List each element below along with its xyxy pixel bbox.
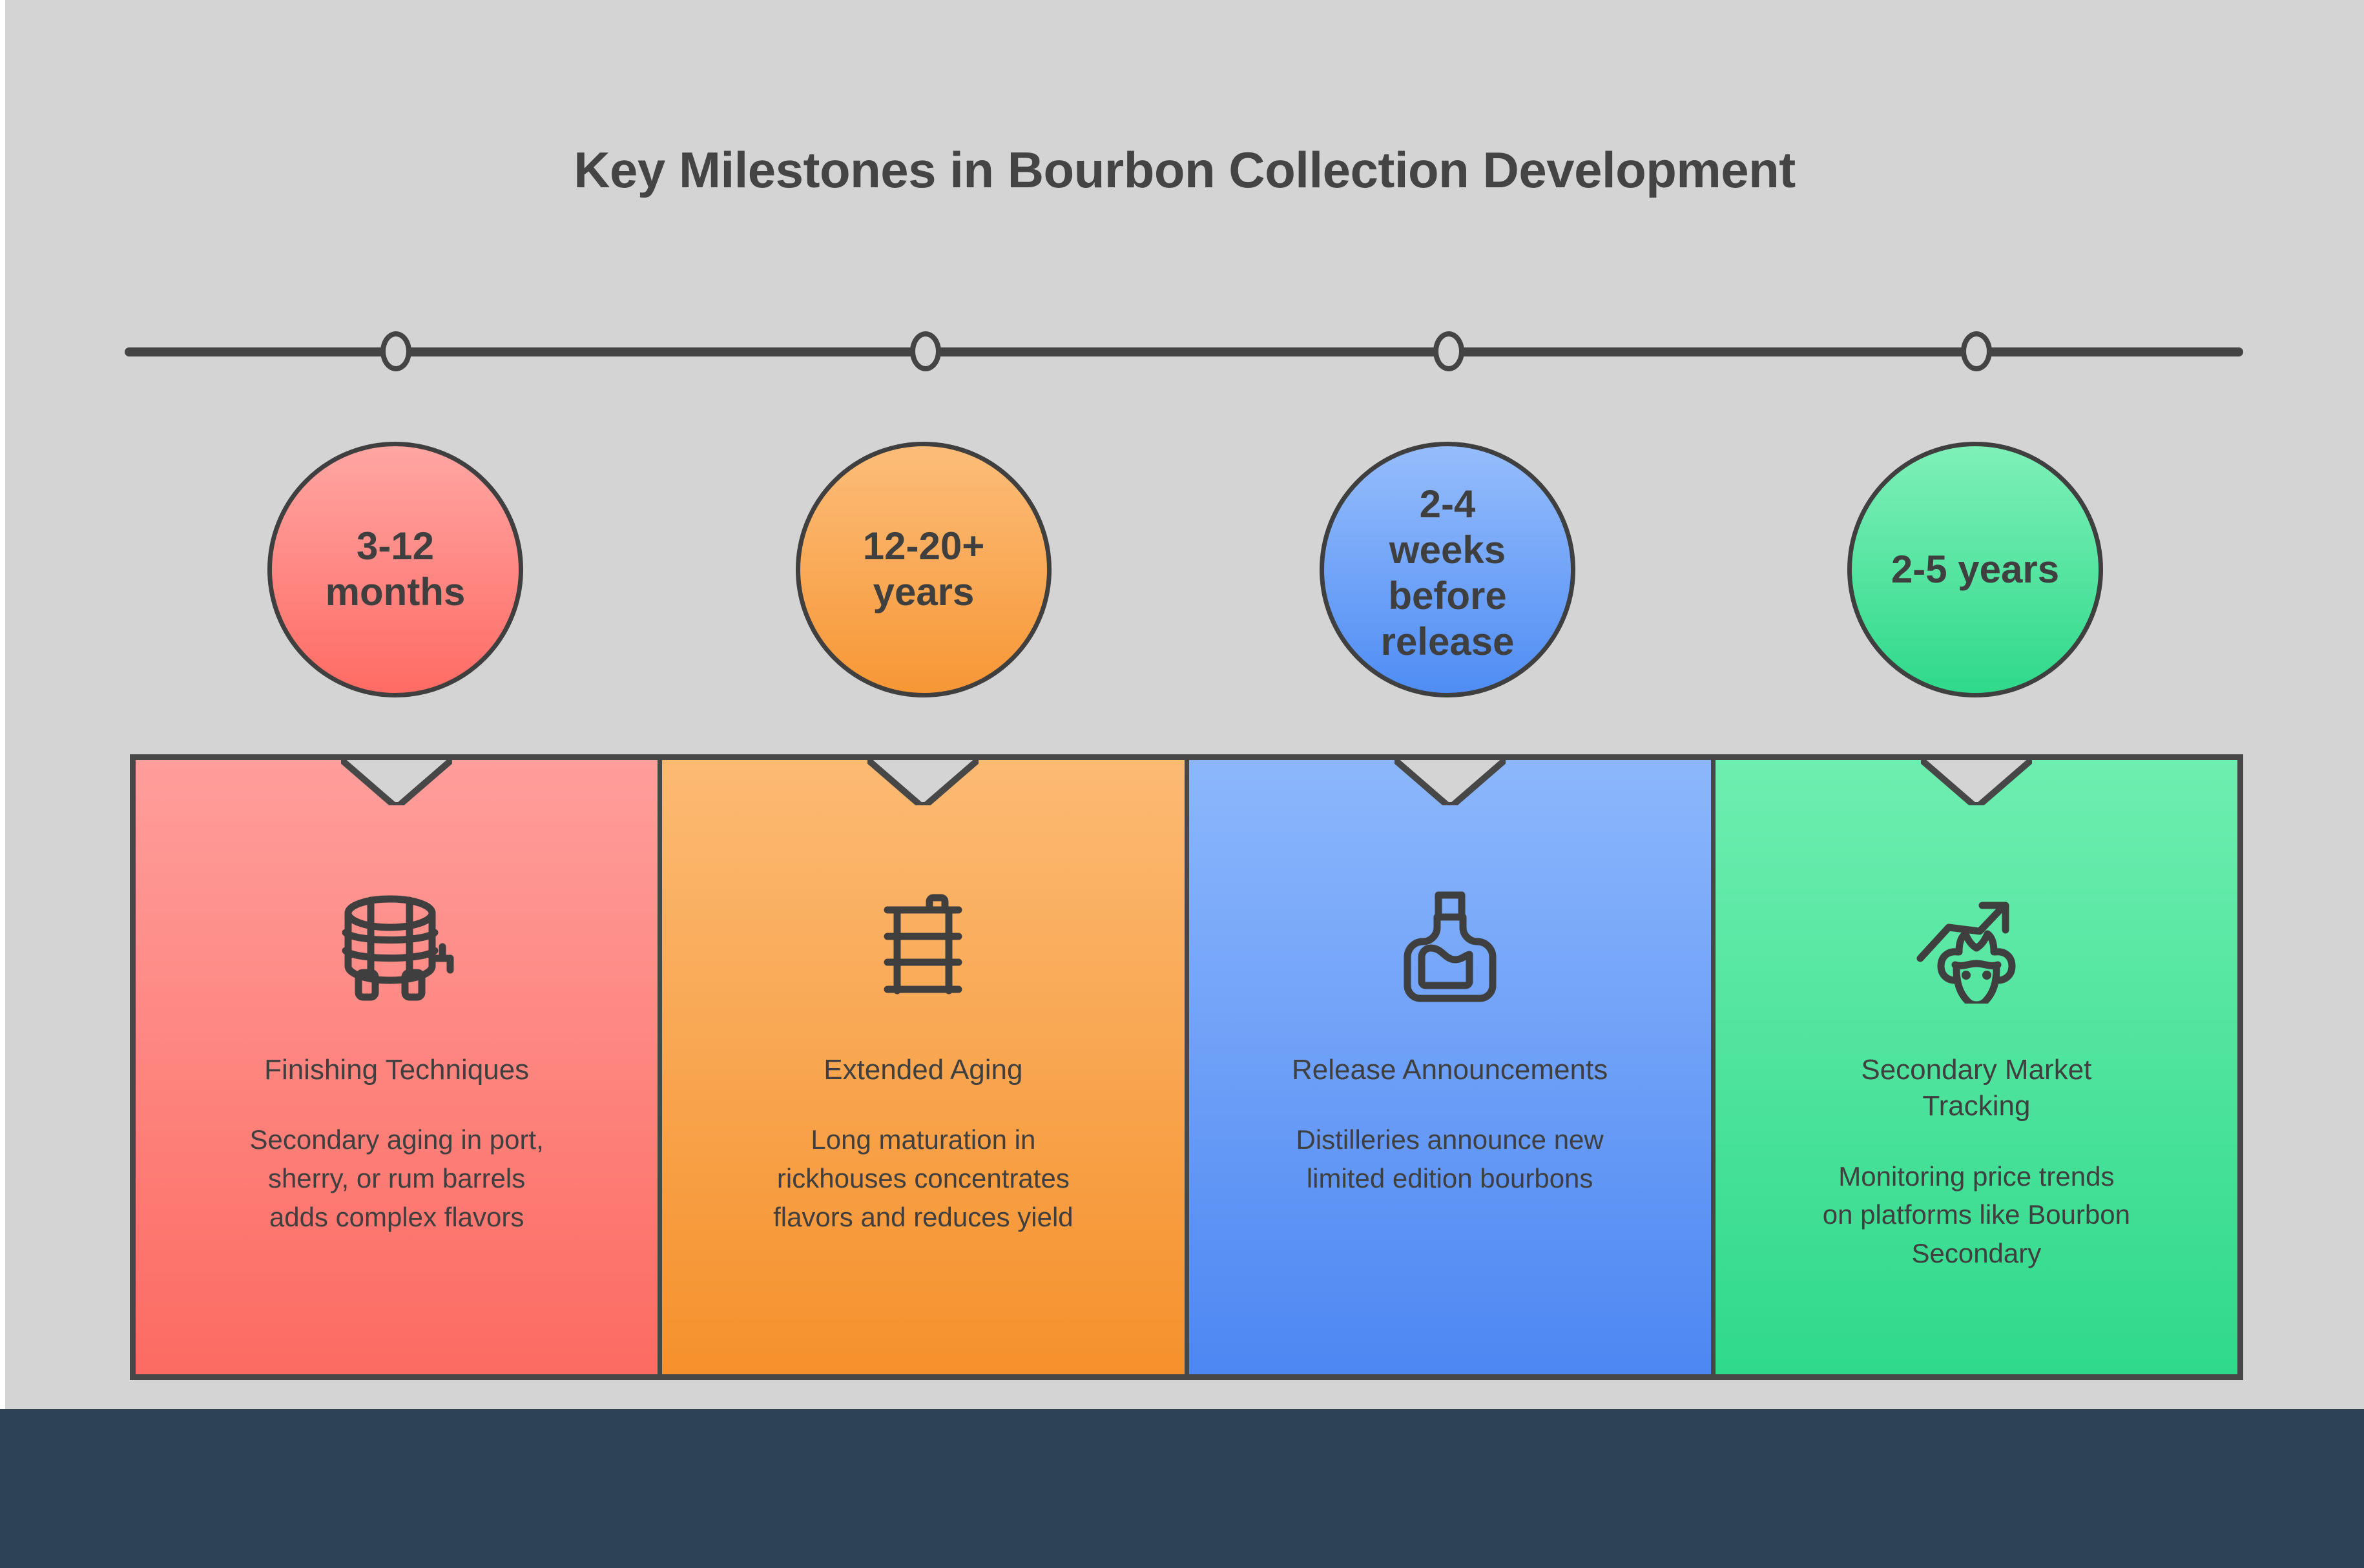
card-notch: [341, 754, 452, 805]
card-title: Finishing Techniques: [245, 1052, 548, 1088]
milestone-cards-row: Finishing Techniques Secondary aging in …: [130, 754, 2243, 1380]
card-title: Release Announcements: [1272, 1052, 1627, 1088]
milestone-card-finishing-techniques[interactable]: Finishing Techniques Secondary aging in …: [136, 760, 662, 1374]
card-description: Monitoring price trends on platforms lik…: [1794, 1157, 2159, 1273]
duration-label: 12-20+ years: [816, 524, 1032, 615]
duration-badge-extended-aging[interactable]: 12-20+ years: [796, 442, 1052, 697]
bourbon-bottle-icon: [1385, 884, 1515, 1007]
infographic-canvas: Key Milestones in Bourbon Collection Dev…: [5, 0, 2364, 1409]
timeline-node-4[interactable]: [1961, 331, 1992, 371]
duration-label: 2-4 weeks before release: [1340, 482, 1555, 665]
milestone-card-release-announcements[interactable]: Release Announcements Distilleries annou…: [1189, 760, 1716, 1374]
timeline-node-2[interactable]: [910, 331, 941, 371]
card-title: Secondary Market Tracking: [1841, 1052, 2111, 1125]
duration-badge-release-announcements[interactable]: 2-4 weeks before release: [1320, 442, 1575, 697]
milestone-card-secondary-market-tracking[interactable]: Secondary Market Tracking Monitoring pri…: [1716, 760, 2237, 1374]
duration-label: 3-12 months: [287, 524, 503, 615]
card-notch: [867, 754, 979, 805]
card-description: Distilleries announce new limited editio…: [1267, 1120, 1632, 1197]
page-title: Key Milestones in Bourbon Collection Dev…: [5, 141, 2364, 200]
duration-badge-finishing-techniques[interactable]: 3-12 months: [267, 442, 523, 697]
timeline-line: [125, 347, 2243, 356]
infographic-stage: Key Milestones in Bourbon Collection Dev…: [0, 0, 2364, 1568]
footer-bar: [0, 1409, 2364, 1568]
duration-badge-secondary-market-tracking[interactable]: 2-5 years: [1847, 442, 2103, 697]
card-description: Secondary aging in port, sherry, or rum …: [221, 1120, 572, 1236]
card-notch: [1395, 754, 1506, 805]
card-notch: [1921, 754, 2032, 805]
timeline-axis: [125, 347, 2243, 356]
timeline-node-3[interactable]: [1433, 331, 1464, 371]
milestone-card-extended-aging[interactable]: Extended Aging Long maturation in rickho…: [662, 760, 1188, 1374]
card-description: Long maturation in rickhouses concentrat…: [745, 1120, 1102, 1236]
duration-label: 2-5 years: [1867, 547, 2083, 593]
barrel-with-tap-icon: [332, 884, 461, 1007]
card-title: Extended Aging: [804, 1052, 1042, 1088]
storage-drum-icon: [858, 884, 988, 1007]
bull-market-trend-icon: [1912, 884, 2041, 1007]
timeline-node-1[interactable]: [380, 331, 411, 371]
